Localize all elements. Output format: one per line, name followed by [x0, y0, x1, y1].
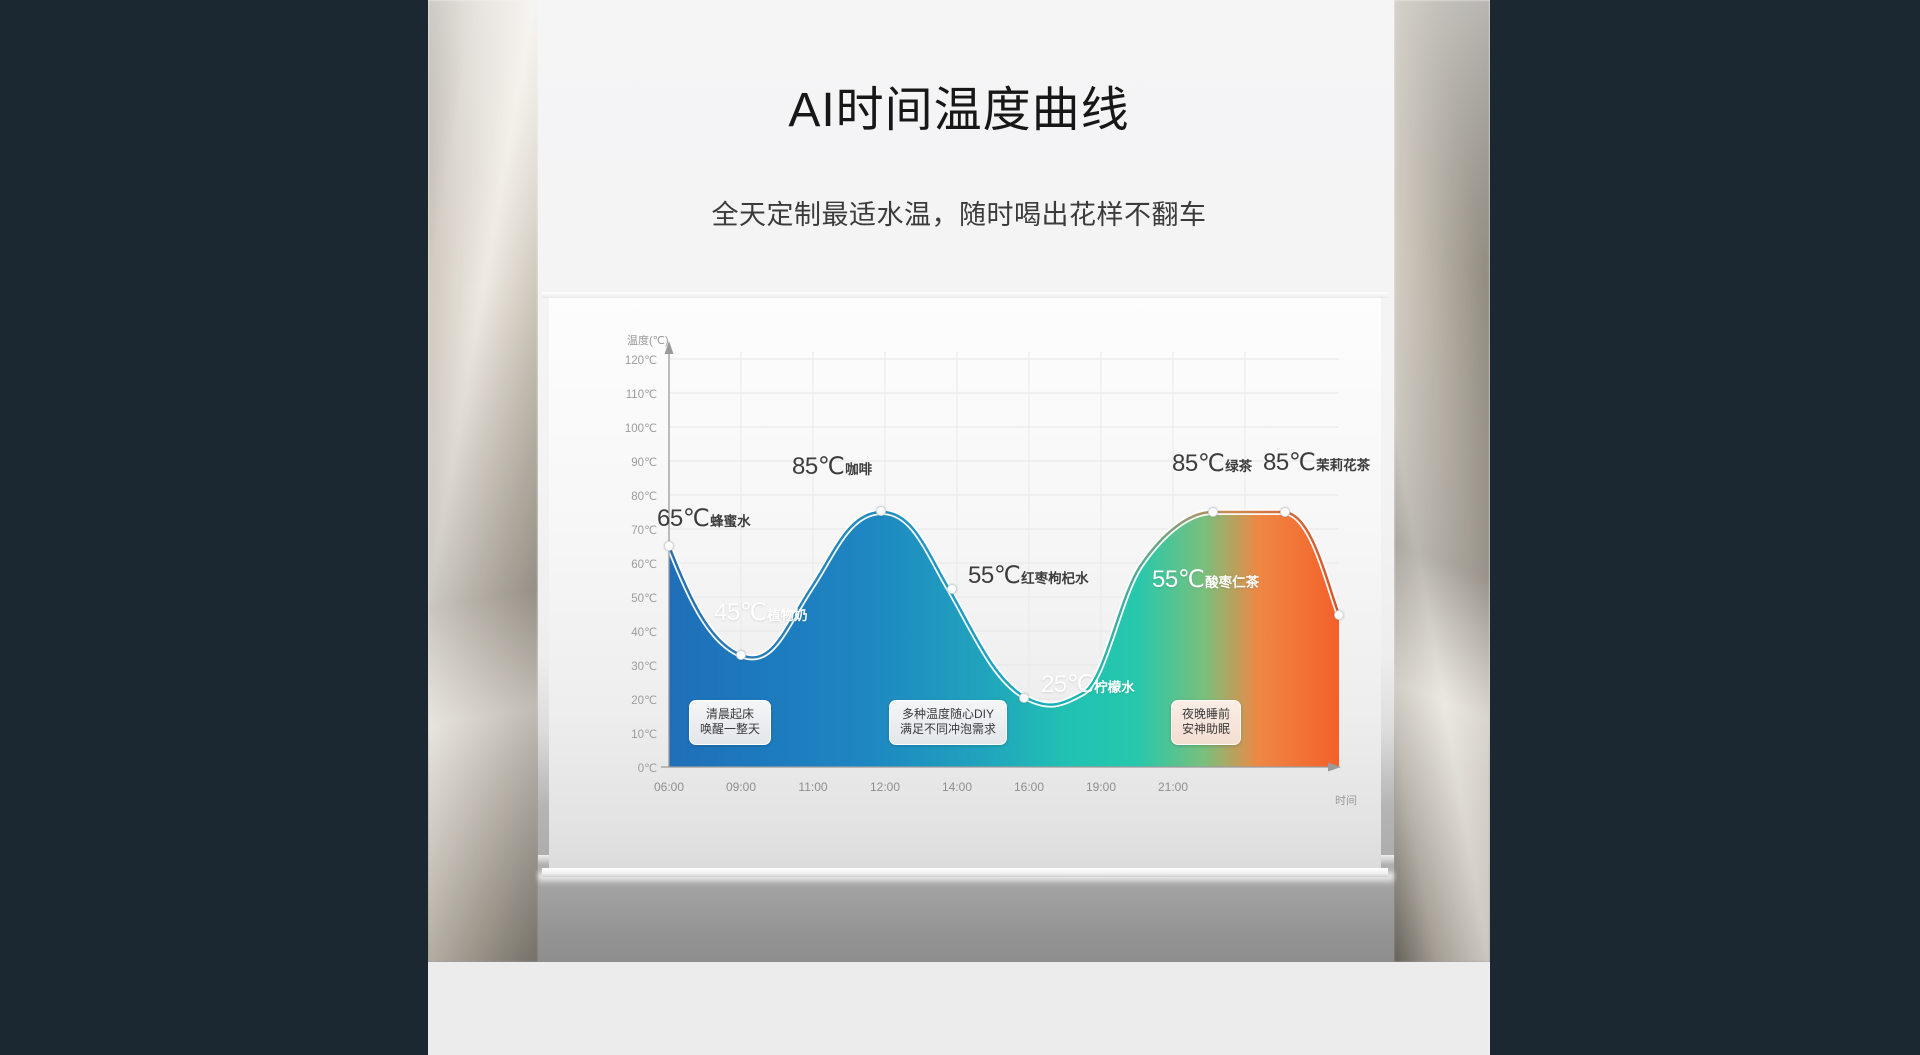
x-tick: 12:00 [851, 780, 919, 794]
annotation-morning[interactable]: 清晨起床 唤醒一整天 [689, 700, 771, 745]
point-label-coffee: 85℃咖啡 [792, 452, 872, 481]
data-point-dot[interactable] [1019, 693, 1029, 703]
data-point-dot[interactable] [664, 541, 674, 551]
page-title: AI时间温度曲线 [428, 70, 1490, 140]
point-label-jujube-wolfberry-water: 55℃红枣枸杞水 [968, 561, 1089, 590]
point-name: 咖啡 [845, 462, 872, 477]
point-temp: 55℃ [1152, 566, 1204, 593]
point-label-jasmine-tea: 85℃茉莉花茶 [1263, 448, 1370, 477]
y-tick: 40℃ [601, 625, 657, 639]
x-tick: 14:00 [923, 780, 991, 794]
point-name: 柠檬水 [1094, 680, 1135, 695]
y-tick: 120℃ [601, 353, 657, 367]
data-point-dot[interactable] [1280, 507, 1290, 517]
point-temp: 25℃ [1041, 671, 1093, 698]
point-label-lemon-water: 25℃柠檬水 [1041, 670, 1135, 699]
annotation-line2: 满足不同冲泡需求 [900, 722, 996, 737]
y-axis-arrow [665, 341, 674, 354]
point-temp: 45℃ [714, 599, 766, 626]
point-name: 蜂蜜水 [710, 514, 751, 529]
y-tick: 0℃ [601, 761, 657, 775]
y-tick: 100℃ [601, 421, 657, 435]
point-name: 红枣枸杞水 [1021, 571, 1089, 586]
point-label-honey-water: 65℃蜂蜜水 [657, 504, 751, 533]
x-tick: 16:00 [995, 780, 1063, 794]
point-label-sour-jujube-tea: 55℃酸枣仁茶 [1152, 565, 1259, 594]
point-name: 植物奶 [767, 608, 808, 623]
point-label-plant-milk: 45℃植物奶 [714, 598, 808, 627]
annotation-night[interactable]: 夜晚睡前 安神助眠 [1171, 700, 1241, 745]
metal-texture-right [1394, 0, 1490, 962]
card-bottom-edge [542, 868, 1388, 877]
y-tick: 80℃ [601, 489, 657, 503]
annotation-line1: 清晨起床 [700, 707, 760, 722]
point-temp: 55℃ [968, 562, 1020, 589]
data-point-dot[interactable] [736, 650, 746, 660]
point-name: 茉莉花茶 [1316, 458, 1370, 473]
temperature-chart: 温度(℃) 时间 [549, 297, 1381, 868]
y-tick: 90℃ [601, 455, 657, 469]
annotation-line1: 夜晚睡前 [1182, 707, 1230, 722]
point-label-green-tea: 85℃绿茶 [1172, 449, 1252, 478]
y-tick: 60℃ [601, 557, 657, 571]
y-tick: 50℃ [601, 591, 657, 605]
y-tick: 70℃ [601, 523, 657, 537]
data-point-dot[interactable] [1208, 507, 1218, 517]
point-name: 酸枣仁茶 [1205, 575, 1259, 590]
page-background: AI时间温度曲线 全天定制最适水温，随时喝出花样不翻车 温度(℃) 时间 [0, 0, 1920, 1055]
point-temp: 85℃ [1172, 450, 1224, 477]
x-tick: 09:00 [707, 780, 775, 794]
annotation-line1: 多种温度随心DIY [900, 707, 996, 722]
data-point-dot[interactable] [947, 584, 957, 594]
point-temp: 85℃ [792, 453, 844, 480]
point-temp: 65℃ [657, 505, 709, 532]
point-temp: 85℃ [1263, 449, 1315, 476]
annotation-line2: 唤醒一整天 [700, 722, 760, 737]
y-tick: 30℃ [601, 659, 657, 673]
chart-card: 温度(℃) 时间 [549, 297, 1381, 868]
annotation-daytime[interactable]: 多种温度随心DIY 满足不同冲泡需求 [889, 700, 1007, 745]
data-point-dot[interactable] [876, 506, 886, 516]
y-tick: 10℃ [601, 727, 657, 741]
y-tick: 20℃ [601, 693, 657, 707]
point-name: 绿茶 [1225, 459, 1252, 474]
metal-texture-left [428, 0, 538, 962]
y-tick: 110℃ [601, 387, 657, 401]
annotation-line2: 安神助眠 [1182, 722, 1230, 737]
x-tick: 11:00 [779, 780, 847, 794]
x-tick: 21:00 [1139, 780, 1207, 794]
page-subtitle: 全天定制最适水温，随时喝出花样不翻车 [428, 193, 1490, 232]
x-tick: 06:00 [635, 780, 703, 794]
data-point-dot[interactable] [1334, 610, 1344, 620]
x-tick: 19:00 [1067, 780, 1135, 794]
